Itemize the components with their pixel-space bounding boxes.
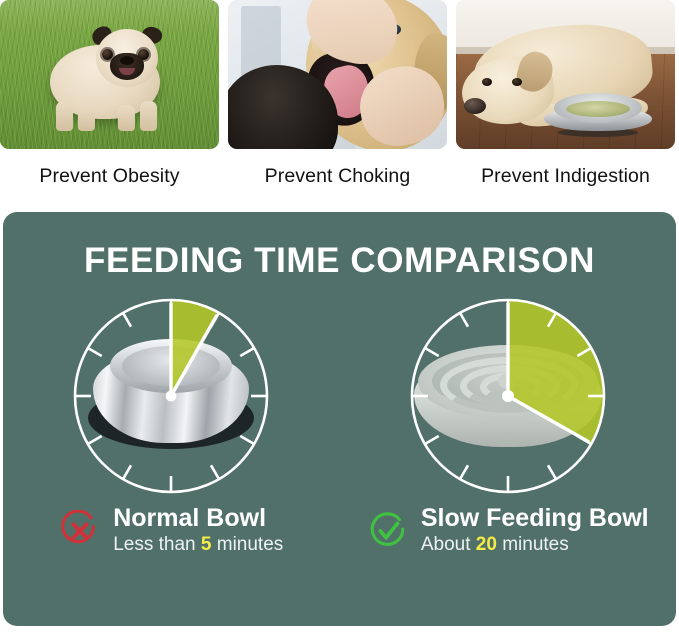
vet-checking-dog-mouth-photo	[228, 0, 447, 149]
benefit-caption-indigestion: Prevent Indigestion	[481, 165, 650, 188]
benefits-row: Prevent Obesity Prevent Choking	[0, 0, 679, 188]
clock-dial-slow-feeding-bowl	[403, 291, 613, 501]
panel-title: FEEDING TIME COMPARISON	[3, 241, 676, 281]
label-sub-value-normal-bowl: 5	[201, 534, 212, 555]
benefit-caption-obesity: Prevent Obesity	[39, 165, 179, 188]
label-title-normal-bowl: Normal Bowl	[113, 505, 283, 532]
slow-feeder-maze-bowl-graphic	[414, 343, 602, 455]
comparison-label-normal-bowl: Normal Bowl Less than 5 minutes	[3, 505, 340, 557]
comparison-labels-row: Normal Bowl Less than 5 minutes Slow Fee…	[3, 505, 676, 557]
dial-column-normal-bowl	[3, 291, 340, 501]
label-sub-normal-bowl: Less than 5 minutes	[113, 533, 283, 557]
stainless-steel-bowl-graphic	[88, 335, 254, 453]
benefit-card-obesity[interactable]: Prevent Obesity	[0, 0, 219, 188]
label-sub-prefix-slow-feeding-bowl: About	[421, 534, 476, 555]
label-sub-suffix-normal-bowl: minutes	[211, 534, 283, 555]
comparison-label-slow-feeding-bowl: Slow Feeding Bowl About 20 minutes	[340, 505, 677, 557]
label-sub-slow-feeding-bowl: About 20 minutes	[421, 533, 649, 557]
dials-row	[3, 291, 676, 501]
label-title-slow-feeding-bowl: Slow Feeding Bowl	[421, 505, 649, 532]
benefit-caption-choking: Prevent Choking	[265, 165, 411, 188]
feeding-time-comparison-panel: FEEDING TIME COMPARISON	[3, 212, 676, 626]
label-sub-suffix-slow-feeding-bowl: minutes	[497, 534, 569, 555]
pug-illustration	[44, 23, 176, 131]
circle-check-icon	[367, 510, 409, 552]
dog-lying-beside-bowl-photo	[456, 0, 675, 149]
benefit-card-indigestion[interactable]: Prevent Indigestion	[456, 0, 675, 188]
circle-x-icon	[59, 510, 101, 552]
label-sub-prefix-normal-bowl: Less than	[113, 534, 201, 555]
clock-dial-normal-bowl	[66, 291, 276, 501]
fat-pug-on-grass-photo	[0, 0, 219, 149]
label-sub-value-slow-feeding-bowl: 20	[476, 534, 497, 555]
benefit-card-choking[interactable]: Prevent Choking	[228, 0, 447, 188]
dial-column-slow-feeding-bowl	[340, 291, 677, 501]
